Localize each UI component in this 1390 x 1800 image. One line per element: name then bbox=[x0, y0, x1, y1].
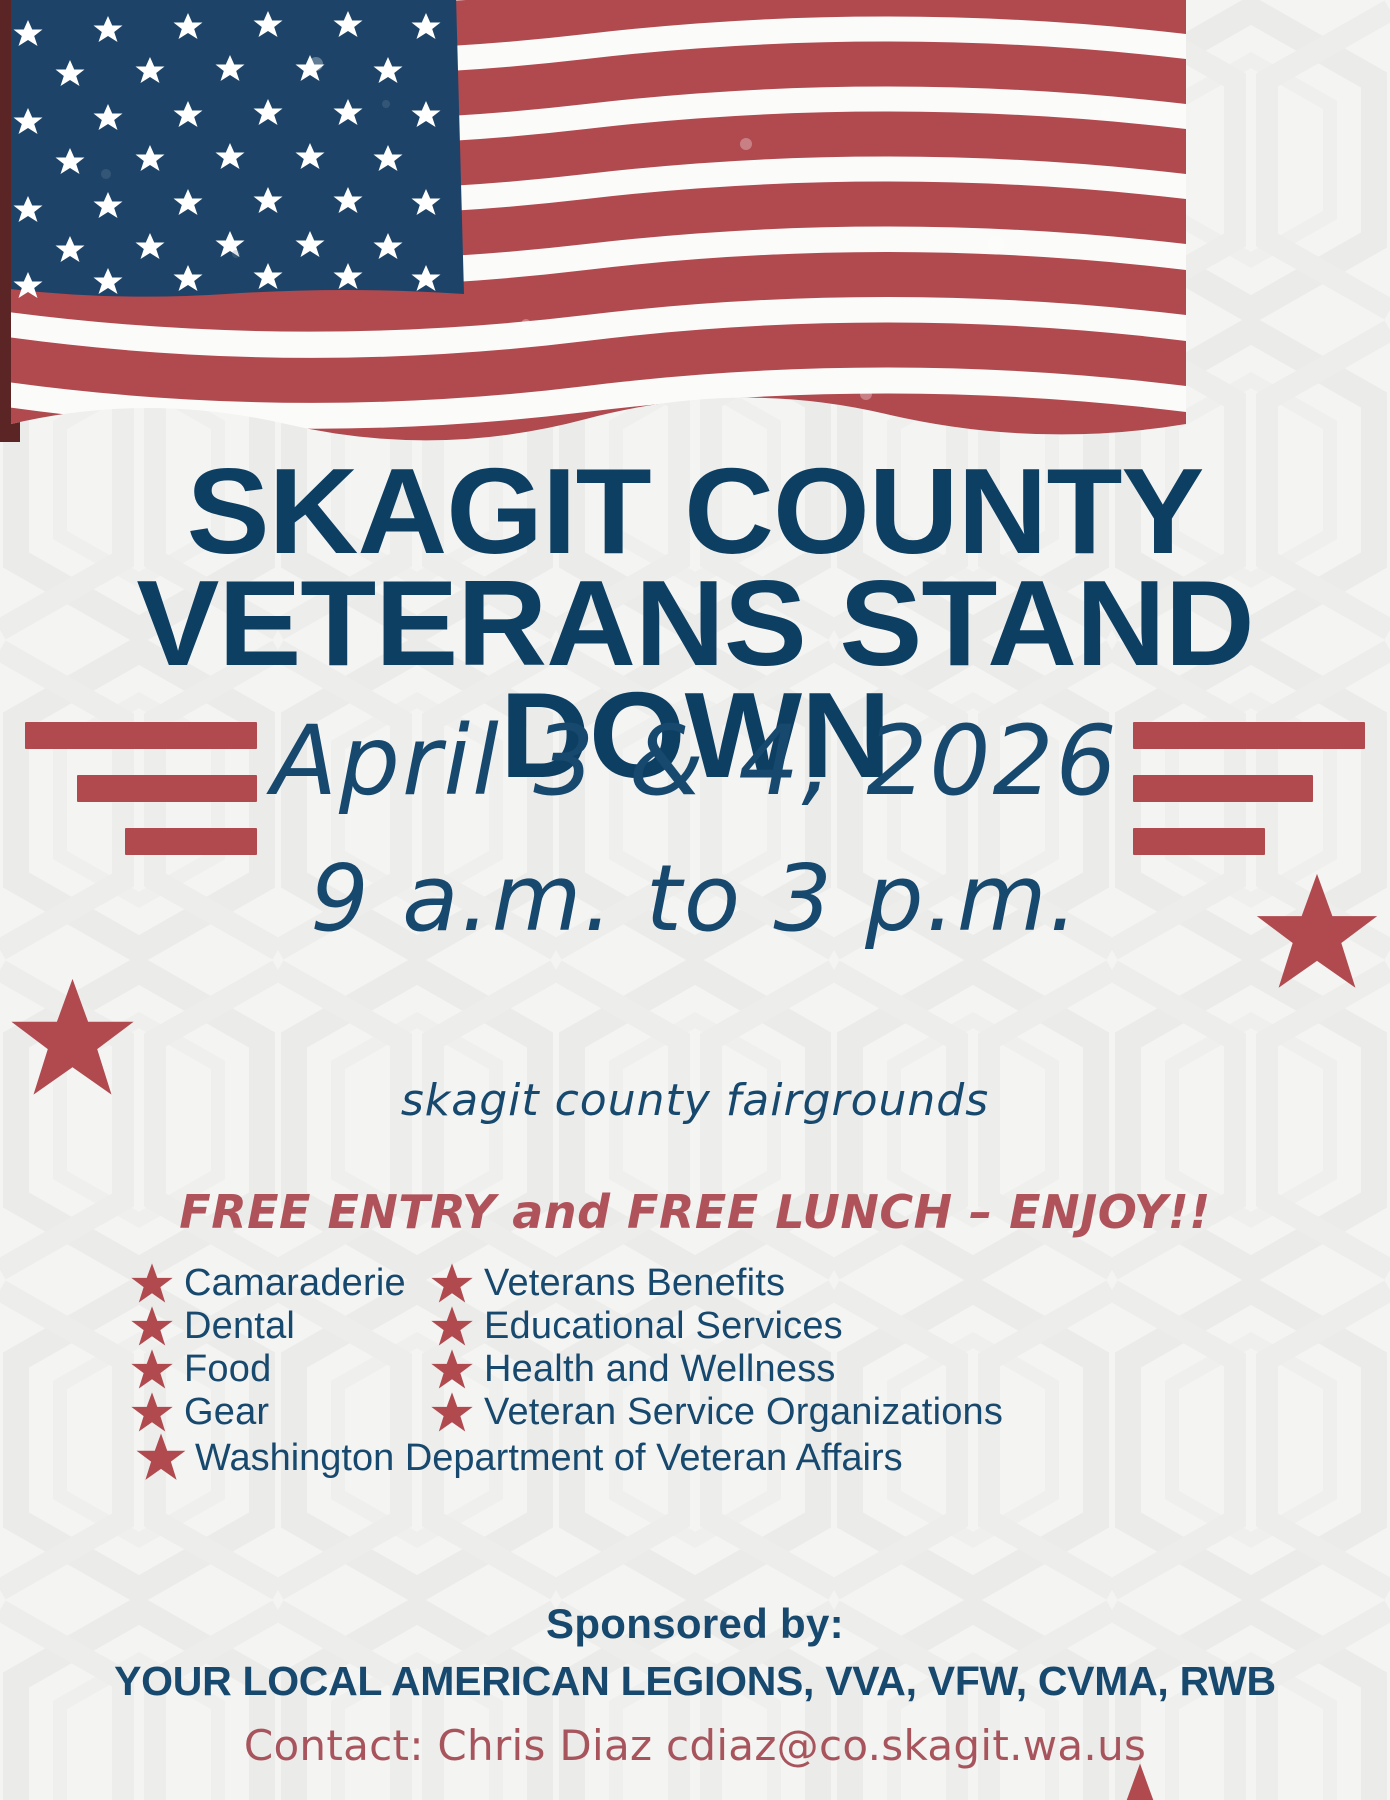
list-item-label: Food bbox=[184, 1348, 271, 1391]
services-column-left: Camaraderie Dental bbox=[130, 1262, 430, 1434]
headline-line-1: SKAGIT COUNTY bbox=[0, 455, 1390, 567]
veterans-stand-down-flyer: SKAGIT COUNTY VETERANS STAND DOWN April … bbox=[0, 0, 1390, 1800]
star-icon bbox=[130, 1391, 174, 1435]
list-item: Veterans Benefits bbox=[430, 1262, 1030, 1305]
list-item: Gear bbox=[130, 1391, 430, 1434]
list-item-label: Health and Wellness bbox=[484, 1348, 836, 1391]
list-item: Veteran Service Organizations bbox=[430, 1391, 1030, 1434]
star-icon bbox=[430, 1262, 474, 1306]
event-date: April 3 & 4, 2026 bbox=[0, 705, 1390, 817]
list-item-label: Camaraderie bbox=[184, 1262, 406, 1305]
star-icon bbox=[135, 1432, 187, 1484]
star-icon bbox=[130, 1262, 174, 1306]
star-icon bbox=[430, 1391, 474, 1435]
sponsors-list: YOUR LOCAL AMERICAN LEGIONS, VVA, VFW, C… bbox=[0, 1658, 1390, 1705]
sponsored-by-label: Sponsored by: bbox=[0, 1600, 1390, 1648]
list-item-label: Washington Department of Veteran Affairs bbox=[195, 1437, 903, 1480]
star-icon bbox=[130, 1348, 174, 1392]
event-time: 9 a.m. to 3 p.m. bbox=[0, 845, 1390, 952]
list-item-label: Veterans Benefits bbox=[484, 1262, 785, 1305]
services-column-right: Veterans Benefits Educational Services bbox=[430, 1262, 1030, 1434]
star-icon bbox=[130, 1305, 174, 1349]
list-item-label: Dental bbox=[184, 1305, 295, 1348]
list-item: Health and Wellness bbox=[430, 1348, 1030, 1391]
list-item: Educational Services bbox=[430, 1305, 1030, 1348]
list-item: Dental bbox=[130, 1305, 430, 1348]
free-entry-banner: FREE ENTRY and FREE LUNCH – ENJOY!! bbox=[0, 1185, 1390, 1239]
list-item: Washington Department of Veteran Affairs bbox=[0, 1434, 1390, 1482]
contact-line: Contact: Chris Diaz cdiaz@co.skagit.wa.u… bbox=[0, 1721, 1390, 1770]
list-item-label: Educational Services bbox=[484, 1305, 843, 1348]
list-item-label: Gear bbox=[184, 1391, 269, 1434]
list-item: Camaraderie bbox=[130, 1262, 430, 1305]
list-item-label: Veteran Service Organizations bbox=[484, 1391, 1003, 1434]
star-icon bbox=[430, 1348, 474, 1392]
star-icon bbox=[430, 1305, 474, 1349]
footer: Sponsored by: YOUR LOCAL AMERICAN LEGION… bbox=[0, 1600, 1390, 1770]
event-venue: skagit county fairgrounds bbox=[0, 1075, 1390, 1126]
american-flag-icon bbox=[0, 0, 1186, 464]
list-item: Food bbox=[130, 1348, 430, 1391]
services-list: Camaraderie Dental bbox=[0, 1262, 1390, 1482]
